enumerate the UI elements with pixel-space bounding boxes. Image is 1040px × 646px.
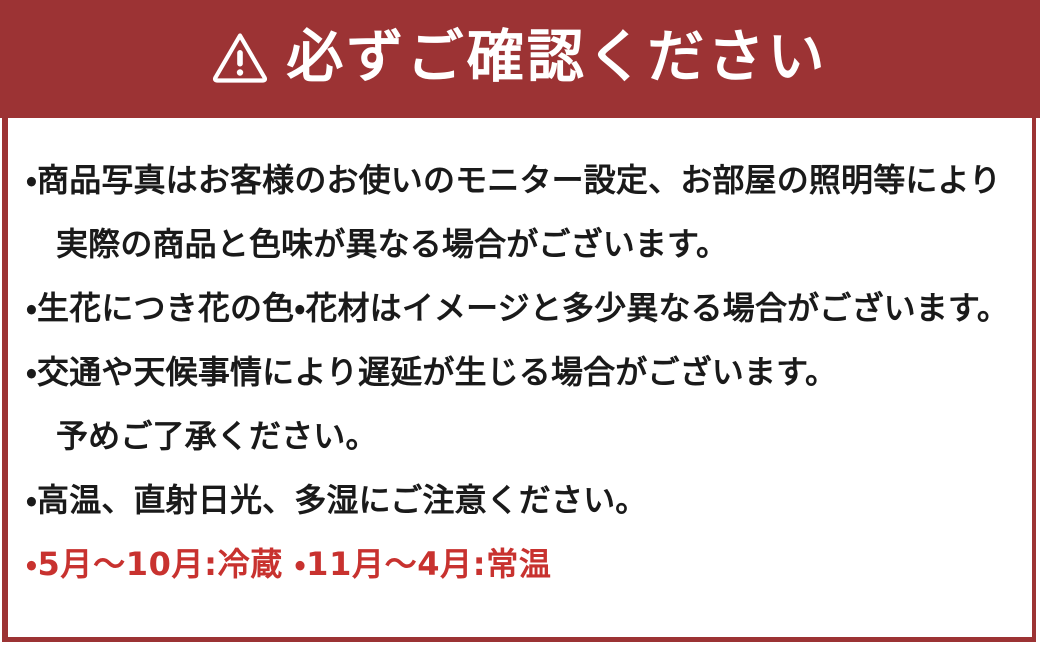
line-storage-caution: ・高温、直射日光、多湿にご注意ください。 bbox=[8, 468, 1032, 532]
notice-line-list: ・商品写真はお客様のお使いのモニター設定、お部屋の照明等により実際の商品と色味が… bbox=[8, 118, 1032, 596]
line-monitor-2: 実際の商品と色味が異なる場合がございます。 bbox=[8, 212, 1032, 276]
notice-header-inner: 必ずご確認ください bbox=[212, 29, 827, 86]
line-season-storage: ・5月〜10月:冷蔵 ・11月〜4月:常温 bbox=[8, 532, 1032, 596]
notice-panel: 必ずご確認ください ・商品写真はお客様のお使いのモニター設定、お部屋の照明等によ… bbox=[0, 0, 1040, 646]
line-fresh-flower: ・生花につき花の色・花材はイメージと多少異なる場合がございます。 bbox=[8, 276, 1032, 340]
notice-header-band: 必ずご確認ください bbox=[0, 0, 1040, 118]
line-monitor-1: ・商品写真はお客様のお使いのモニター設定、お部屋の照明等により bbox=[8, 148, 1032, 212]
notice-body-frame: ・商品写真はお客様のお使いのモニター設定、お部屋の照明等により実際の商品と色味が… bbox=[2, 118, 1036, 642]
page-title: 必ずご確認ください bbox=[286, 29, 827, 86]
line-delivery-delay-1: ・交通や天候事情により遅延が生じる場合がございます。 bbox=[8, 340, 1032, 404]
line-delivery-delay-2: 予めご了承ください。 bbox=[8, 404, 1032, 468]
warning-triangle-icon bbox=[212, 31, 268, 83]
